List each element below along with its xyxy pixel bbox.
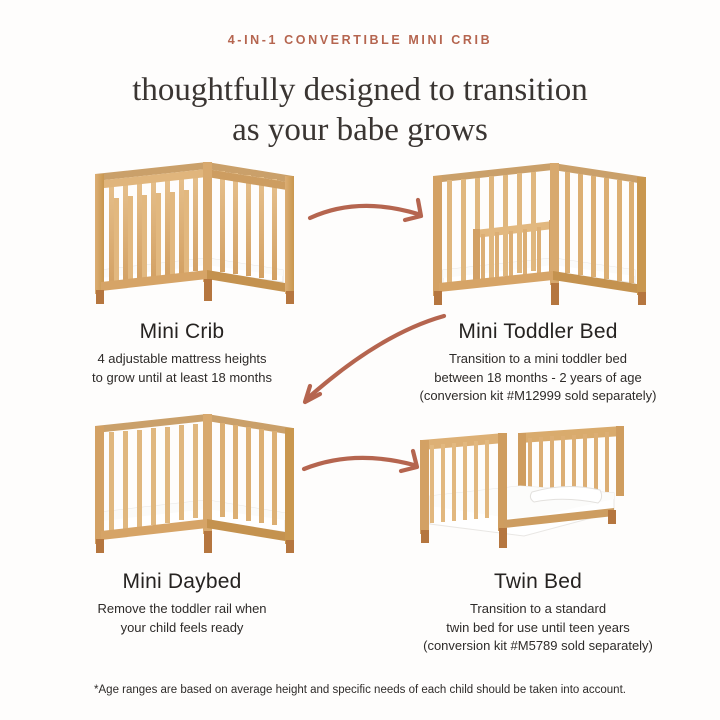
infographic-page: 4-IN-1 CONVERTIBLE MINI CRIB thoughtfull…: [0, 0, 720, 720]
stage-twin-bed: Twin Bed Transition to a standard twin b…: [378, 400, 698, 656]
footnote: *Age ranges are based on average height …: [0, 684, 720, 696]
stage-title: Mini Toddler Bed: [378, 320, 698, 344]
stage-title: Twin Bed: [378, 570, 698, 594]
page-title: thoughtfully designed to transition as y…: [0, 70, 720, 150]
stage-desc-line-2: your child feels ready: [121, 620, 244, 635]
stage-desc-line-2: between 18 months - 2 years of age: [434, 370, 641, 385]
stage-mini-crib: Mini Crib 4 adjustable mattress heights …: [22, 150, 342, 387]
headline-line-2: as your babe grows: [0, 110, 720, 150]
stage-title: Mini Crib: [22, 320, 342, 344]
headline-line-1: thoughtfully designed to transition: [132, 72, 588, 108]
stage-mini-daybed: Mini Daybed Remove the toddler rail when…: [22, 400, 342, 637]
stage-title: Mini Daybed: [22, 570, 342, 594]
mini-daybed-illustration: [22, 400, 342, 568]
stage-desc-line-1: 4 adjustable mattress heights: [97, 351, 266, 366]
stage-desc-line-2: twin bed for use until teen years: [446, 620, 630, 635]
stage-desc-line-1: Transition to a mini toddler bed: [449, 351, 627, 366]
stage-description: Transition to a standard twin bed for us…: [378, 600, 698, 656]
mini-toddler-bed-illustration: [378, 150, 698, 318]
twin-bed-illustration: [378, 400, 698, 568]
stage-desc-line-1: Transition to a standard: [470, 601, 606, 616]
stage-mini-toddler-bed: Mini Toddler Bed Transition to a mini to…: [378, 150, 698, 406]
stage-desc-line-2: to grow until at least 18 months: [92, 370, 272, 385]
stage-desc-line-1: Remove the toddler rail when: [97, 601, 266, 616]
stage-description: Transition to a mini toddler bed between…: [378, 350, 698, 406]
stage-kit-note: (conversion kit #M5789 sold separately): [378, 637, 698, 656]
mini-crib-illustration: [22, 150, 342, 318]
stage-description: 4 adjustable mattress heights to grow un…: [22, 350, 342, 387]
stage-description: Remove the toddler rail when your child …: [22, 600, 342, 637]
eyebrow-label: 4-IN-1 CONVERTIBLE MINI CRIB: [0, 33, 720, 47]
